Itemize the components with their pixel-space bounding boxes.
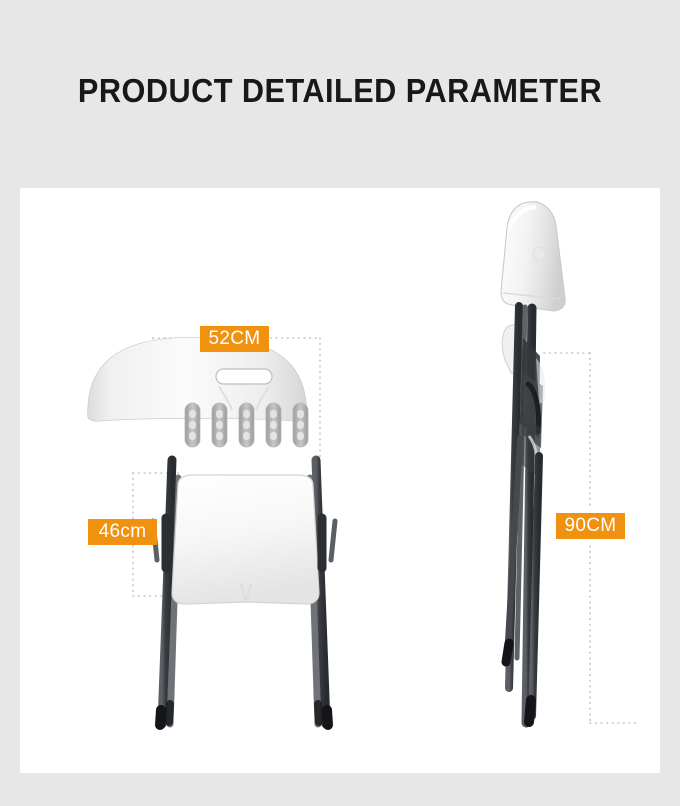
dimension-badge-width: 52CM bbox=[200, 326, 269, 352]
foot-left bbox=[160, 710, 161, 725]
folded-foot-upper bbox=[506, 643, 509, 662]
chair-folded-view bbox=[501, 202, 565, 723]
dimension-badge-seat-height: 46cm bbox=[88, 519, 157, 545]
backrest-handle-slot bbox=[216, 369, 272, 384]
diagram-stage bbox=[20, 188, 660, 773]
dimension-badge-folded-height: 90CM bbox=[556, 513, 625, 539]
product-parameter-page: PRODUCT DETAILED PARAMETER bbox=[0, 0, 680, 806]
folded-foot-lower bbox=[529, 700, 531, 722]
foot-right bbox=[327, 710, 328, 725]
product-illustration bbox=[20, 188, 660, 773]
page-title: PRODUCT DETAILED PARAMETER bbox=[24, 72, 656, 110]
seat-panel bbox=[172, 475, 319, 604]
product-diagram-card bbox=[20, 188, 660, 773]
